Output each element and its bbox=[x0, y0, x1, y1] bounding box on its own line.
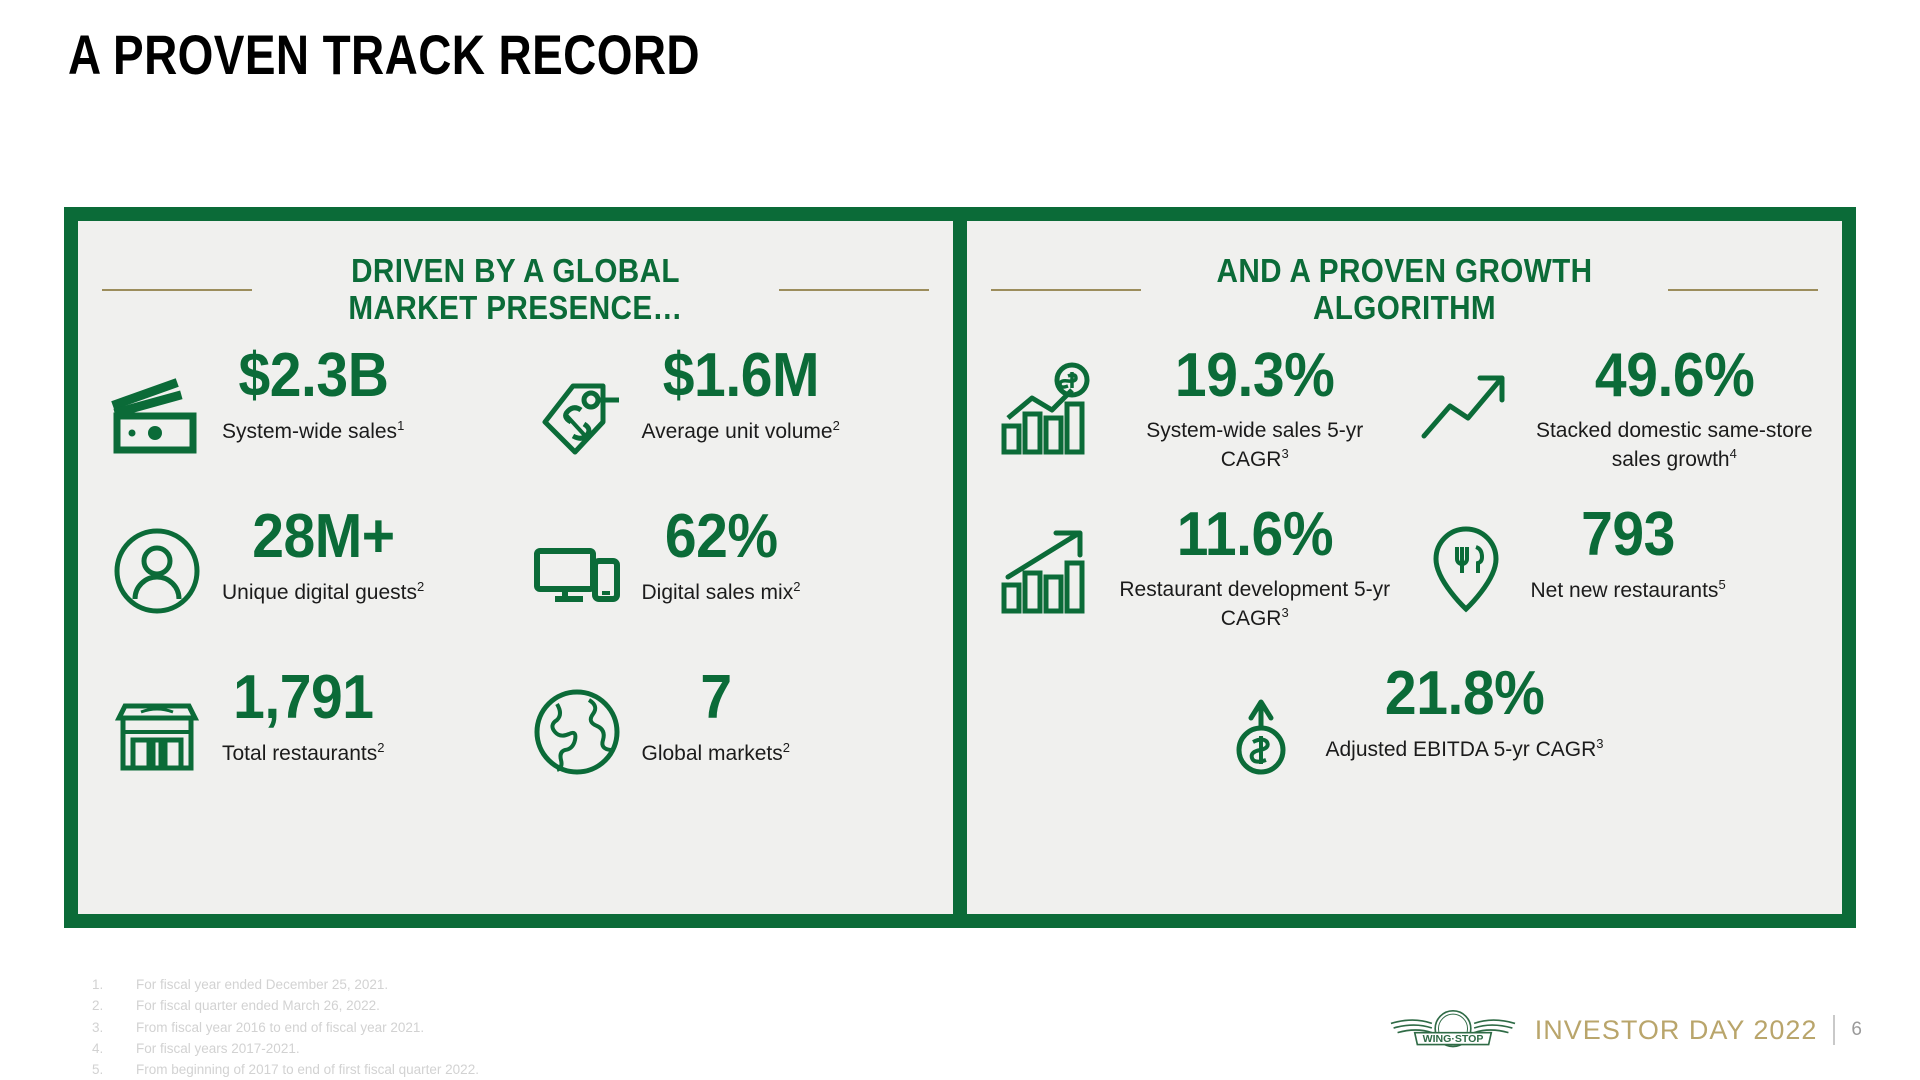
left-stats-grid: $2.3B System-wide sales1 bbox=[96, 333, 935, 894]
trend-arrow-icon bbox=[1411, 355, 1521, 465]
stat-item: $1.6M Average unit volume2 bbox=[516, 333, 936, 488]
page-number: 6 bbox=[1851, 1019, 1862, 1041]
stat-value: 11.6% bbox=[1177, 504, 1333, 566]
stat-item: 1,791 Total restaurants2 bbox=[96, 655, 516, 810]
stat-label: Restaurant development 5-yr CAGR3 bbox=[1111, 576, 1399, 632]
bar-chart-dollar-icon bbox=[991, 355, 1101, 465]
footnote-item: 3. From fiscal year 2016 to end of fisca… bbox=[92, 1017, 479, 1038]
stat-label: Total restaurants2 bbox=[222, 739, 384, 768]
dollar-up-arrow-icon bbox=[1206, 673, 1316, 783]
footnote-text: For fiscal years 2017-2021. bbox=[136, 1038, 300, 1059]
footnotes-list: 1. For fiscal year ended December 25, 20… bbox=[92, 974, 479, 1080]
stat-label: Unique digital guests2 bbox=[222, 578, 424, 607]
footnote-number: 1. bbox=[92, 974, 136, 995]
footnote-item: 5. From beginning of 2017 to end of firs… bbox=[92, 1059, 479, 1080]
footnote-text: From beginning of 2017 to end of first f… bbox=[136, 1059, 479, 1080]
footer-separator bbox=[1833, 1015, 1835, 1045]
footnote-number: 3. bbox=[92, 1017, 136, 1038]
right-panel: AND A PROVEN GROWTH ALGORITHM bbox=[967, 221, 1842, 914]
stat-label: Digital sales mix2 bbox=[642, 578, 801, 607]
footnote-item: 4. For fiscal years 2017-2021. bbox=[92, 1038, 479, 1059]
svg-text:WING·STOP: WING·STOP bbox=[1422, 1033, 1483, 1045]
footnote-item: 1. For fiscal year ended December 25, 20… bbox=[92, 974, 479, 995]
wingstop-logo-icon: WING·STOP bbox=[1387, 1002, 1519, 1058]
stat-label: Net new restaurants5 bbox=[1531, 576, 1726, 605]
stat-item: 11.6% Restaurant development 5-yr CAGR3 bbox=[985, 492, 1405, 647]
stat-item: 49.6% Stacked domestic same-store sales … bbox=[1405, 333, 1825, 488]
footnote-number: 5. bbox=[92, 1059, 136, 1080]
price-tag-icon bbox=[522, 355, 632, 465]
left-panel-header: DRIVEN BY A GLOBAL MARKET PRESENCE… bbox=[96, 247, 935, 333]
stat-label: System-wide sales1 bbox=[222, 417, 404, 446]
stat-label: System-wide sales 5-yr CAGR3 bbox=[1111, 417, 1399, 473]
stat-label: Global markets2 bbox=[642, 739, 790, 768]
stat-value: 62% bbox=[665, 506, 778, 568]
stat-label: Average unit volume2 bbox=[642, 417, 840, 446]
stat-label: Stacked domestic same-store sales growth… bbox=[1531, 417, 1819, 473]
right-panel-title: AND A PROVEN GROWTH ALGORITHM bbox=[1184, 253, 1626, 327]
stat-value: $2.3B bbox=[238, 345, 388, 407]
footer-event-label: INVESTOR DAY 2022 bbox=[1535, 1015, 1818, 1046]
stat-value: 793 bbox=[1581, 504, 1675, 566]
stat-value: 28M+ bbox=[252, 506, 394, 568]
footnote-text: From fiscal year 2016 to end of fiscal y… bbox=[136, 1017, 424, 1038]
content-board: DRIVEN BY A GLOBAL MARKET PRESENCE… bbox=[64, 207, 1856, 928]
stat-label: Adjusted EBITDA 5-yr CAGR3 bbox=[1326, 735, 1604, 764]
stat-item: 21.8% Adjusted EBITDA 5-yr CAGR3 bbox=[985, 651, 1824, 806]
slide-footer: WING·STOP INVESTOR DAY 2022 6 bbox=[1387, 1002, 1862, 1058]
cash-money-icon bbox=[102, 355, 212, 465]
restaurant-pin-icon bbox=[1411, 514, 1521, 624]
stat-item: 62% Digital sales mix2 bbox=[516, 494, 936, 649]
stat-value: 21.8% bbox=[1385, 663, 1544, 725]
stat-value: 19.3% bbox=[1175, 345, 1334, 407]
stat-value: $1.6M bbox=[663, 345, 819, 407]
divider-rule-left bbox=[102, 289, 252, 291]
stat-value: 7 bbox=[700, 667, 731, 729]
stat-value: 1,791 bbox=[233, 667, 373, 729]
stat-item: 793 Net new restaurants5 bbox=[1405, 492, 1825, 647]
bar-chart-arrow-icon bbox=[991, 514, 1101, 624]
globe-icon bbox=[522, 677, 632, 787]
stat-item: $2.3B System-wide sales1 bbox=[96, 333, 516, 488]
stat-item: 7 Global markets2 bbox=[516, 655, 936, 810]
user-circle-icon bbox=[102, 516, 212, 626]
stat-item: 19.3% System-wide sales 5-yr CAGR3 bbox=[985, 333, 1405, 488]
stat-item: 28M+ Unique digital guests2 bbox=[96, 494, 516, 649]
page-title: A PROVEN TRACK RECORD bbox=[68, 22, 700, 87]
footnote-number: 4. bbox=[92, 1038, 136, 1059]
divider-rule-right bbox=[779, 289, 929, 291]
divider-rule-left bbox=[991, 289, 1141, 291]
footnote-text: For fiscal year ended December 25, 2021. bbox=[136, 974, 388, 995]
footnote-number: 2. bbox=[92, 995, 136, 1016]
footnote-text: For fiscal quarter ended March 26, 2022. bbox=[136, 995, 380, 1016]
slide: A PROVEN TRACK RECORD DRIVEN BY A GLOBAL… bbox=[0, 0, 1920, 1080]
left-panel-title: DRIVEN BY A GLOBAL MARKET PRESENCE… bbox=[295, 253, 737, 327]
devices-icon bbox=[522, 516, 632, 626]
left-panel: DRIVEN BY A GLOBAL MARKET PRESENCE… bbox=[78, 221, 953, 914]
stat-value: 49.6% bbox=[1595, 345, 1754, 407]
footnote-item: 2. For fiscal quarter ended March 26, 20… bbox=[92, 995, 479, 1016]
divider-rule-right bbox=[1668, 289, 1818, 291]
right-stats-grid: 19.3% System-wide sales 5-yr CAGR3 49.6%… bbox=[985, 333, 1824, 894]
storefront-icon bbox=[102, 677, 212, 787]
right-panel-header: AND A PROVEN GROWTH ALGORITHM bbox=[985, 247, 1824, 333]
